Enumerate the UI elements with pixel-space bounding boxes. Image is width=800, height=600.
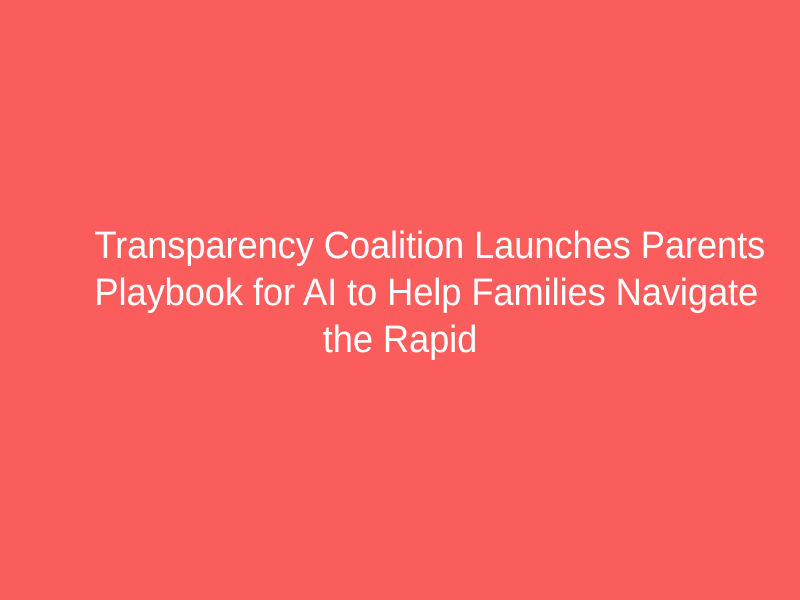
headline: Transparency Coalition Launches Parents … xyxy=(80,223,720,364)
headline-line-3: the Rapid xyxy=(94,317,705,364)
headline-line-2: Playbook for AI to Help Families Navigat… xyxy=(94,270,705,317)
headline-line-1: Transparency Coalition Launches Parents xyxy=(94,223,705,270)
social-share-card: Transparency Coalition Launches Parents … xyxy=(0,0,800,600)
